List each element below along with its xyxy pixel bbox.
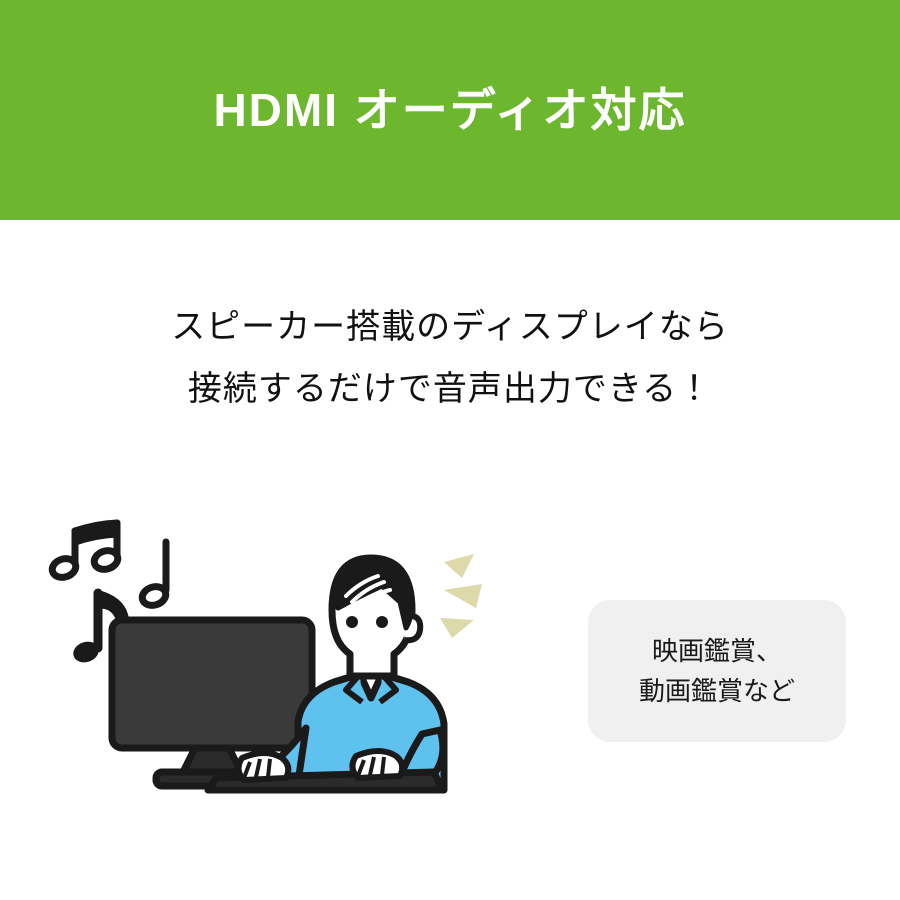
callout-line-1: 映画鑑賞、 bbox=[652, 631, 782, 671]
lead-text-block: スピーカー搭載のディスプレイなら 接続するだけで音声出力できる！ bbox=[0, 296, 900, 420]
usecase-callout: 映画鑑賞、 動画鑑賞など bbox=[588, 600, 846, 742]
person-head bbox=[332, 558, 420, 676]
person-eye-right bbox=[376, 616, 388, 628]
page-root: HDMI オーディオ対応 スピーカー搭載のディスプレイなら 接続するだけで音声出… bbox=[0, 0, 900, 900]
music-note-beamed-pair-icon bbox=[50, 523, 120, 580]
lead-line-2: 接続するだけで音声出力できる！ bbox=[0, 358, 900, 420]
illustration bbox=[30, 490, 550, 810]
illustration-svg bbox=[30, 490, 550, 810]
header-band: HDMI オーディオ対応 bbox=[0, 0, 900, 220]
music-note-quarter-icon bbox=[140, 542, 168, 608]
callout-line-2: 動画鑑賞など bbox=[639, 671, 795, 711]
person-eye-left bbox=[346, 616, 358, 628]
person-hand-left bbox=[238, 753, 288, 780]
lead-line-1: スピーカー搭載のディスプレイなら bbox=[0, 296, 900, 358]
page-title: HDMI オーディオ対応 bbox=[213, 87, 686, 133]
person-hand-right bbox=[352, 751, 402, 778]
monitor bbox=[112, 620, 312, 748]
sparkle-lines-icon bbox=[440, 554, 482, 638]
